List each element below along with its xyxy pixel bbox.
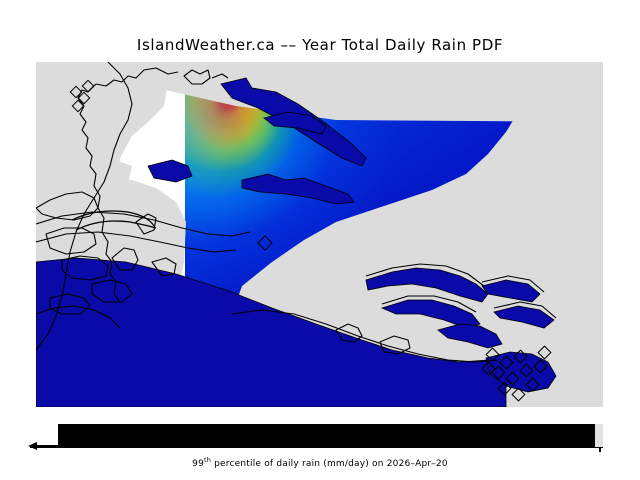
colorbar-endcap [595, 424, 603, 447]
weather-map-page: IslandWeather.ca –– Year Total Daily Rai… [0, 0, 640, 480]
caption-percentile: 99 [192, 459, 204, 469]
map-plot-area[interactable] [36, 62, 603, 407]
land-north-strip [112, 62, 603, 122]
colorbar-gradient[interactable] [58, 424, 595, 447]
land-southwest-islands [36, 180, 186, 407]
page-title: IslandWeather.ca –– Year Total Daily Rai… [0, 36, 640, 54]
land-mask-layer [36, 62, 603, 407]
caption-text: percentile of daily rain (mm/day) on 202… [211, 459, 448, 469]
colorbar-container [36, 424, 603, 448]
colorbar-caption: 99th percentile of daily rain (mm/day) o… [0, 456, 640, 469]
colorbar-tick-right [599, 447, 601, 452]
